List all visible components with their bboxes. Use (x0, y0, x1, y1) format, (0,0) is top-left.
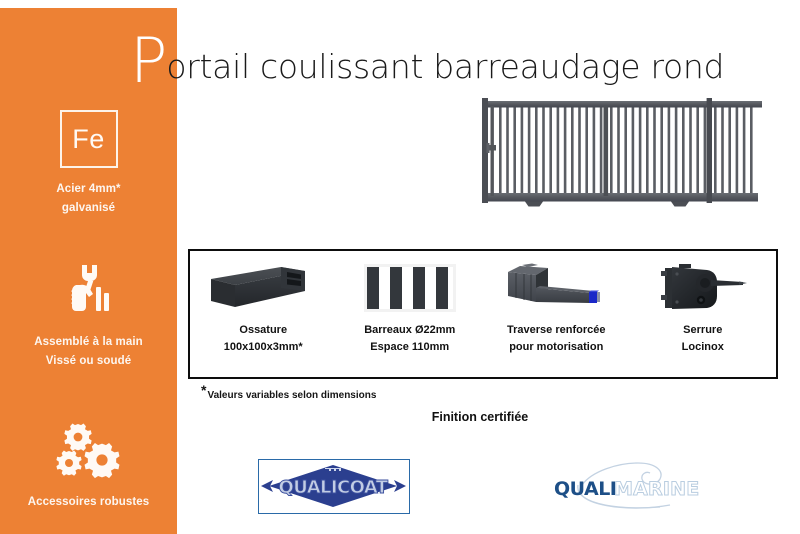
footnote-asterisk: * (201, 382, 206, 398)
qualimarine-wordmark-bold: QUALI (554, 478, 616, 500)
spec-column-lock: Serrure Locinox (630, 251, 777, 377)
sidebar-feature-assembly-line1: Assemblé à la main (0, 333, 177, 352)
qualicoat-wordmark: QUALICOAT (279, 477, 389, 498)
spec-bars-line2: Espace 110mm (364, 339, 455, 356)
qualicoat-logo: QUALICOAT (258, 459, 410, 514)
square-tube-profile-icon (190, 259, 337, 317)
reinforced-crossbeam-motorisation-icon (483, 259, 630, 317)
sidebar-feature-accessories-line1: Accessoires robustes (0, 493, 177, 512)
sidebar-feature-steel-line1: Acier 4mm* (0, 180, 177, 199)
gears-icon (0, 416, 177, 488)
specifications-box: Ossature 100x100x3mm* B (188, 249, 778, 379)
sidebar-feature-steel-line2: galvanisé (0, 199, 177, 218)
sidebar-feature-assembly: Assemblé à la main Vissé ou soudé (0, 256, 177, 371)
spec-bars-line1: Barreaux Ø22mm (364, 322, 455, 339)
spec-column-crossbeam: Traverse renforcée pour motorisation (483, 251, 630, 377)
footnote: *Valeurs variables selon dimensions (201, 382, 376, 401)
certification-heading: Finition certifiée (0, 410, 800, 424)
page-title-text: ortail coulissant barreaudage rond (166, 50, 724, 83)
hand-holding-wrench-icon (0, 256, 177, 328)
footnote-text: Valeurs variables selon dimensions (207, 390, 376, 401)
spec-crossbeam-line2: pour motorisation (507, 339, 605, 356)
product-datasheet-page: Fe Acier 4mm* galvanisé (0, 0, 800, 534)
round-bars-spacing-icon (337, 259, 484, 317)
lock-locinox-icon (630, 259, 777, 317)
fe-symbol-label: Fe (72, 126, 105, 153)
sidebar-feature-steel: Fe Acier 4mm* galvanisé (0, 103, 177, 218)
spec-crossbeam-line1: Traverse renforcée (507, 322, 605, 339)
spec-lock-line2: Locinox (682, 339, 724, 356)
spec-column-bars: Barreaux Ø22mm Espace 110mm (337, 251, 484, 377)
sliding-gate-round-bars-drawing (473, 92, 781, 217)
certification-logos: QUALICOAT QUALI MARINE (188, 455, 778, 525)
fe-element-box-icon: Fe (0, 103, 177, 175)
sidebar-feature-accessories: Accessoires robustes (0, 416, 177, 512)
spec-column-frame: Ossature 100x100x3mm* (190, 251, 337, 377)
qualimarine-logo: QUALI MARINE (552, 455, 712, 517)
spec-frame-line2: 100x100x3mm* (224, 339, 303, 356)
qualimarine-wordmark-light: MARINE (614, 478, 699, 500)
page-title-initial: P (130, 30, 165, 92)
page-title: P ortail coulissant barreaudage rond (130, 26, 724, 88)
sidebar-feature-assembly-line2: Vissé ou soudé (0, 352, 177, 371)
spec-frame-line1: Ossature (224, 322, 303, 339)
spec-lock-line1: Serrure (682, 322, 724, 339)
